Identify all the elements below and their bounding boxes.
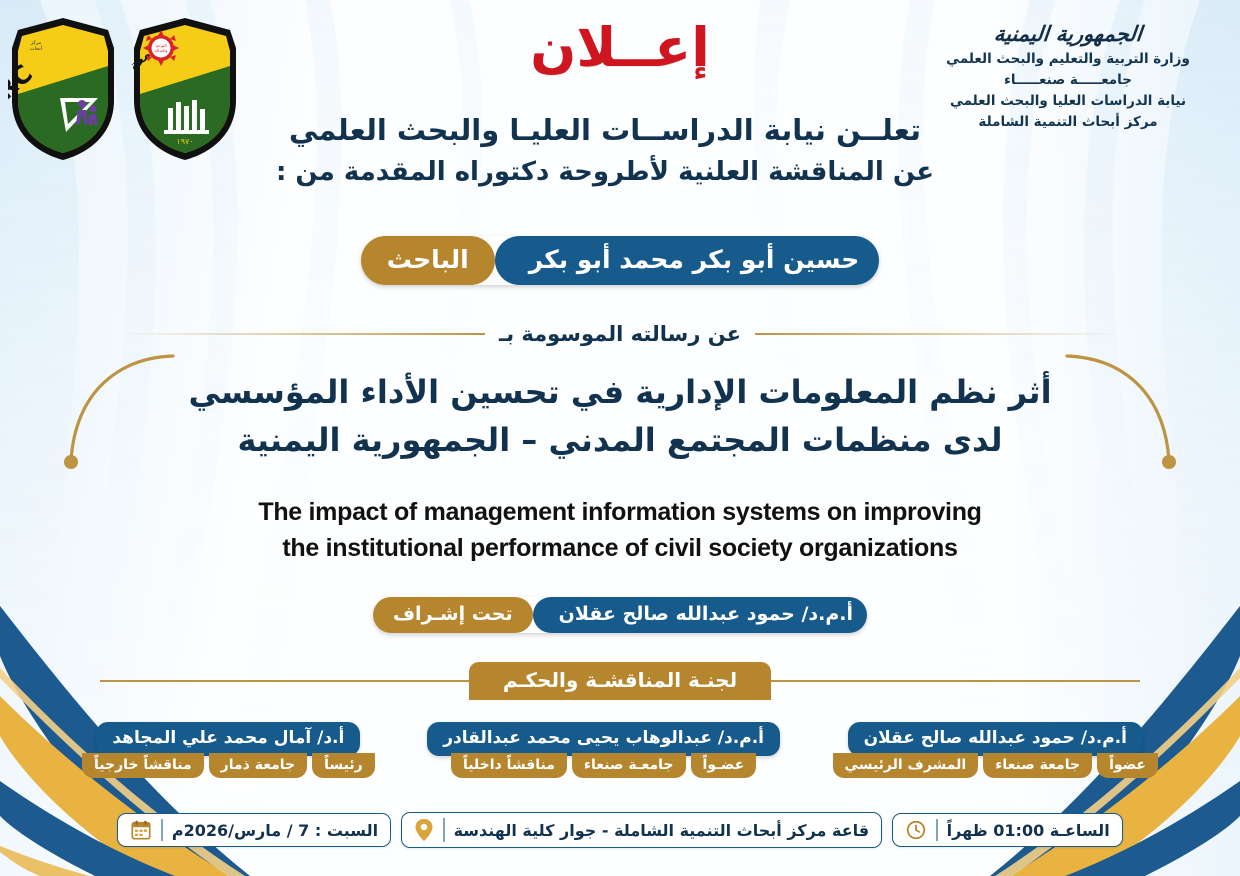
member-name: أ.م.د/ حمود عبدالله صالح عقلان bbox=[848, 722, 1143, 756]
ministry-line-2: جامعـــــة صنعـــــاء bbox=[918, 70, 1218, 91]
researcher-name: حسين أبو بكر محمد أبو بكر bbox=[495, 236, 880, 285]
researcher-pill: حسين أبو بكر محمد أبو بكر الباحث bbox=[361, 236, 880, 285]
ministry-block: الجمهورية اليمنية وزارة التربية والتعليم… bbox=[918, 22, 1218, 133]
thesis-english-line-2: the institutional performance of civil s… bbox=[150, 530, 1090, 566]
thesis-title-english: The impact of management information sys… bbox=[150, 494, 1090, 567]
supervisor-row: أ.م.د/ حمود عبدالله صالح عقلان تحت إشـرا… bbox=[0, 597, 1240, 633]
thesis-arabic-line-1: أثر نظم المعلومات الإدارية في تحسين الأد… bbox=[150, 368, 1090, 416]
thesis-title-arabic: أثر نظم المعلومات الإدارية في تحسين الأد… bbox=[150, 368, 1090, 464]
intro-block: تعلــن نيابة الدراســات العليـا والبحث ا… bbox=[180, 112, 1030, 191]
svg-text:والعدالة: والعدالة bbox=[155, 48, 168, 53]
sanaa-university-logo: جامعة صنعاء التوحيد والعدالة bbox=[130, 14, 240, 164]
thesis-arabic-line-2: لدى منظمات المجتمع المدني – الجمهورية ال… bbox=[150, 416, 1090, 464]
calendar-icon bbox=[130, 819, 152, 841]
member-tag-capacity: مناقشاً خارجياً bbox=[82, 753, 204, 778]
committee-member: أ.د/ آمال محمد علي المجاهد رئيساً جامعة … bbox=[82, 722, 375, 778]
researcher-row: حسين أبو بكر محمد أبو بكر الباحث bbox=[0, 236, 1240, 285]
member-name: أ.م.د/ عبدالوهاب يحيى محمد عبدالقادر bbox=[427, 722, 780, 756]
supervisor-name: أ.م.د/ حمود عبدالله صالح عقلان bbox=[533, 597, 867, 633]
venue-chip: قاعة مركز أبحاث التنمية الشاملة - جوار ك… bbox=[401, 812, 882, 848]
chip-divider bbox=[936, 819, 938, 841]
svg-text:١٩٧٠: ١٩٧٠ bbox=[176, 137, 193, 146]
chip-divider bbox=[443, 818, 445, 842]
member-tag-capacity: مناقشاً داخلياً bbox=[451, 753, 567, 778]
committee-line-right bbox=[100, 680, 469, 682]
thesis-english-line-1: The impact of management information sys… bbox=[150, 494, 1090, 530]
rule-line-left bbox=[755, 333, 1120, 335]
intro-line-2: عن المناقشة العلنية لأطروحة دكتوراه المق… bbox=[180, 154, 1030, 190]
ministry-line-4: مركز أبحاث التنمية الشاملة bbox=[918, 112, 1218, 133]
footer-bar: الساعـة 01:00 ظهراً قاعة مركز أبحاث التن… bbox=[90, 812, 1150, 848]
member-tag-affiliation: جامعـة صنعاء bbox=[572, 753, 686, 778]
time-text: الساعـة 01:00 ظهراً bbox=[947, 821, 1110, 840]
member-tag-affiliation: جامعة ذمار bbox=[209, 753, 307, 778]
ministry-line-1: وزارة التربية والتعليم والبحث العلمي bbox=[918, 49, 1218, 70]
chip-divider bbox=[161, 819, 163, 841]
thesis-rule-heading: عن رسالته الموسومة بـ bbox=[120, 322, 1120, 346]
member-tags: رئيساً جامعة ذمار مناقشاً خارجياً bbox=[82, 753, 375, 778]
committee-heading: لجنـة المناقشـة والحكـم bbox=[100, 662, 1140, 700]
intro-line-1: تعلــن نيابة الدراســات العليـا والبحث ا… bbox=[180, 112, 1030, 148]
map-pin-icon bbox=[414, 818, 434, 842]
idrc-logo: IDRC مركز أبحاث bbox=[8, 14, 118, 164]
member-tag-role: عضـواً bbox=[691, 753, 757, 778]
committee-member: أ.م.د/ عبدالوهاب يحيى محمد عبدالقادر عضـ… bbox=[427, 722, 780, 778]
thesis-rule-text: عن رسالته الموسومة بـ bbox=[499, 322, 741, 346]
committee-member: أ.م.د/ حمود عبدالله صالح عقلان عضواً جام… bbox=[833, 722, 1158, 778]
time-chip: الساعـة 01:00 ظهراً bbox=[892, 813, 1123, 847]
member-name: أ.د/ آمال محمد علي المجاهد bbox=[96, 722, 360, 756]
venue-text: قاعة مركز أبحاث التنمية الشاملة - جوار ك… bbox=[454, 821, 870, 840]
member-tag-role: رئيساً bbox=[312, 753, 375, 778]
supervisor-pill: أ.م.د/ حمود عبدالله صالح عقلان تحت إشـرا… bbox=[373, 597, 867, 633]
member-tag-capacity: المشرف الرئيسي bbox=[833, 753, 979, 778]
researcher-label: الباحث bbox=[361, 236, 495, 285]
member-tag-affiliation: جامعة صنعاء bbox=[983, 753, 1092, 778]
date-text: السبت : 7 / مارس/2026م bbox=[172, 821, 378, 840]
clock-icon bbox=[905, 819, 927, 841]
supervisor-label: تحت إشـراف bbox=[373, 597, 533, 633]
date-chip: السبت : 7 / مارس/2026م bbox=[117, 813, 391, 847]
member-tag-role: عضواً bbox=[1097, 753, 1158, 778]
committee-title: لجنـة المناقشـة والحكـم bbox=[469, 662, 771, 700]
committee-members: أ.م.د/ حمود عبدالله صالح عقلان عضواً جام… bbox=[82, 722, 1158, 778]
svg-text:أبحاث: أبحاث bbox=[30, 45, 43, 52]
ministry-line-3: نيابة الدراسات العليا والبحث العلمي bbox=[918, 91, 1218, 112]
rule-line-right bbox=[120, 333, 485, 335]
member-tags: عضـواً جامعـة صنعاء مناقشاً داخلياً bbox=[451, 753, 756, 778]
republic-script: الجمهورية اليمنية bbox=[917, 22, 1219, 45]
member-tags: عضواً جامعة صنعاء المشرف الرئيسي bbox=[833, 753, 1158, 778]
logo-group: جامعة صنعاء التوحيد والعدالة bbox=[8, 14, 240, 164]
announcement-poster: جامعة صنعاء التوحيد والعدالة bbox=[0, 0, 1240, 876]
committee-line-left bbox=[771, 680, 1140, 682]
